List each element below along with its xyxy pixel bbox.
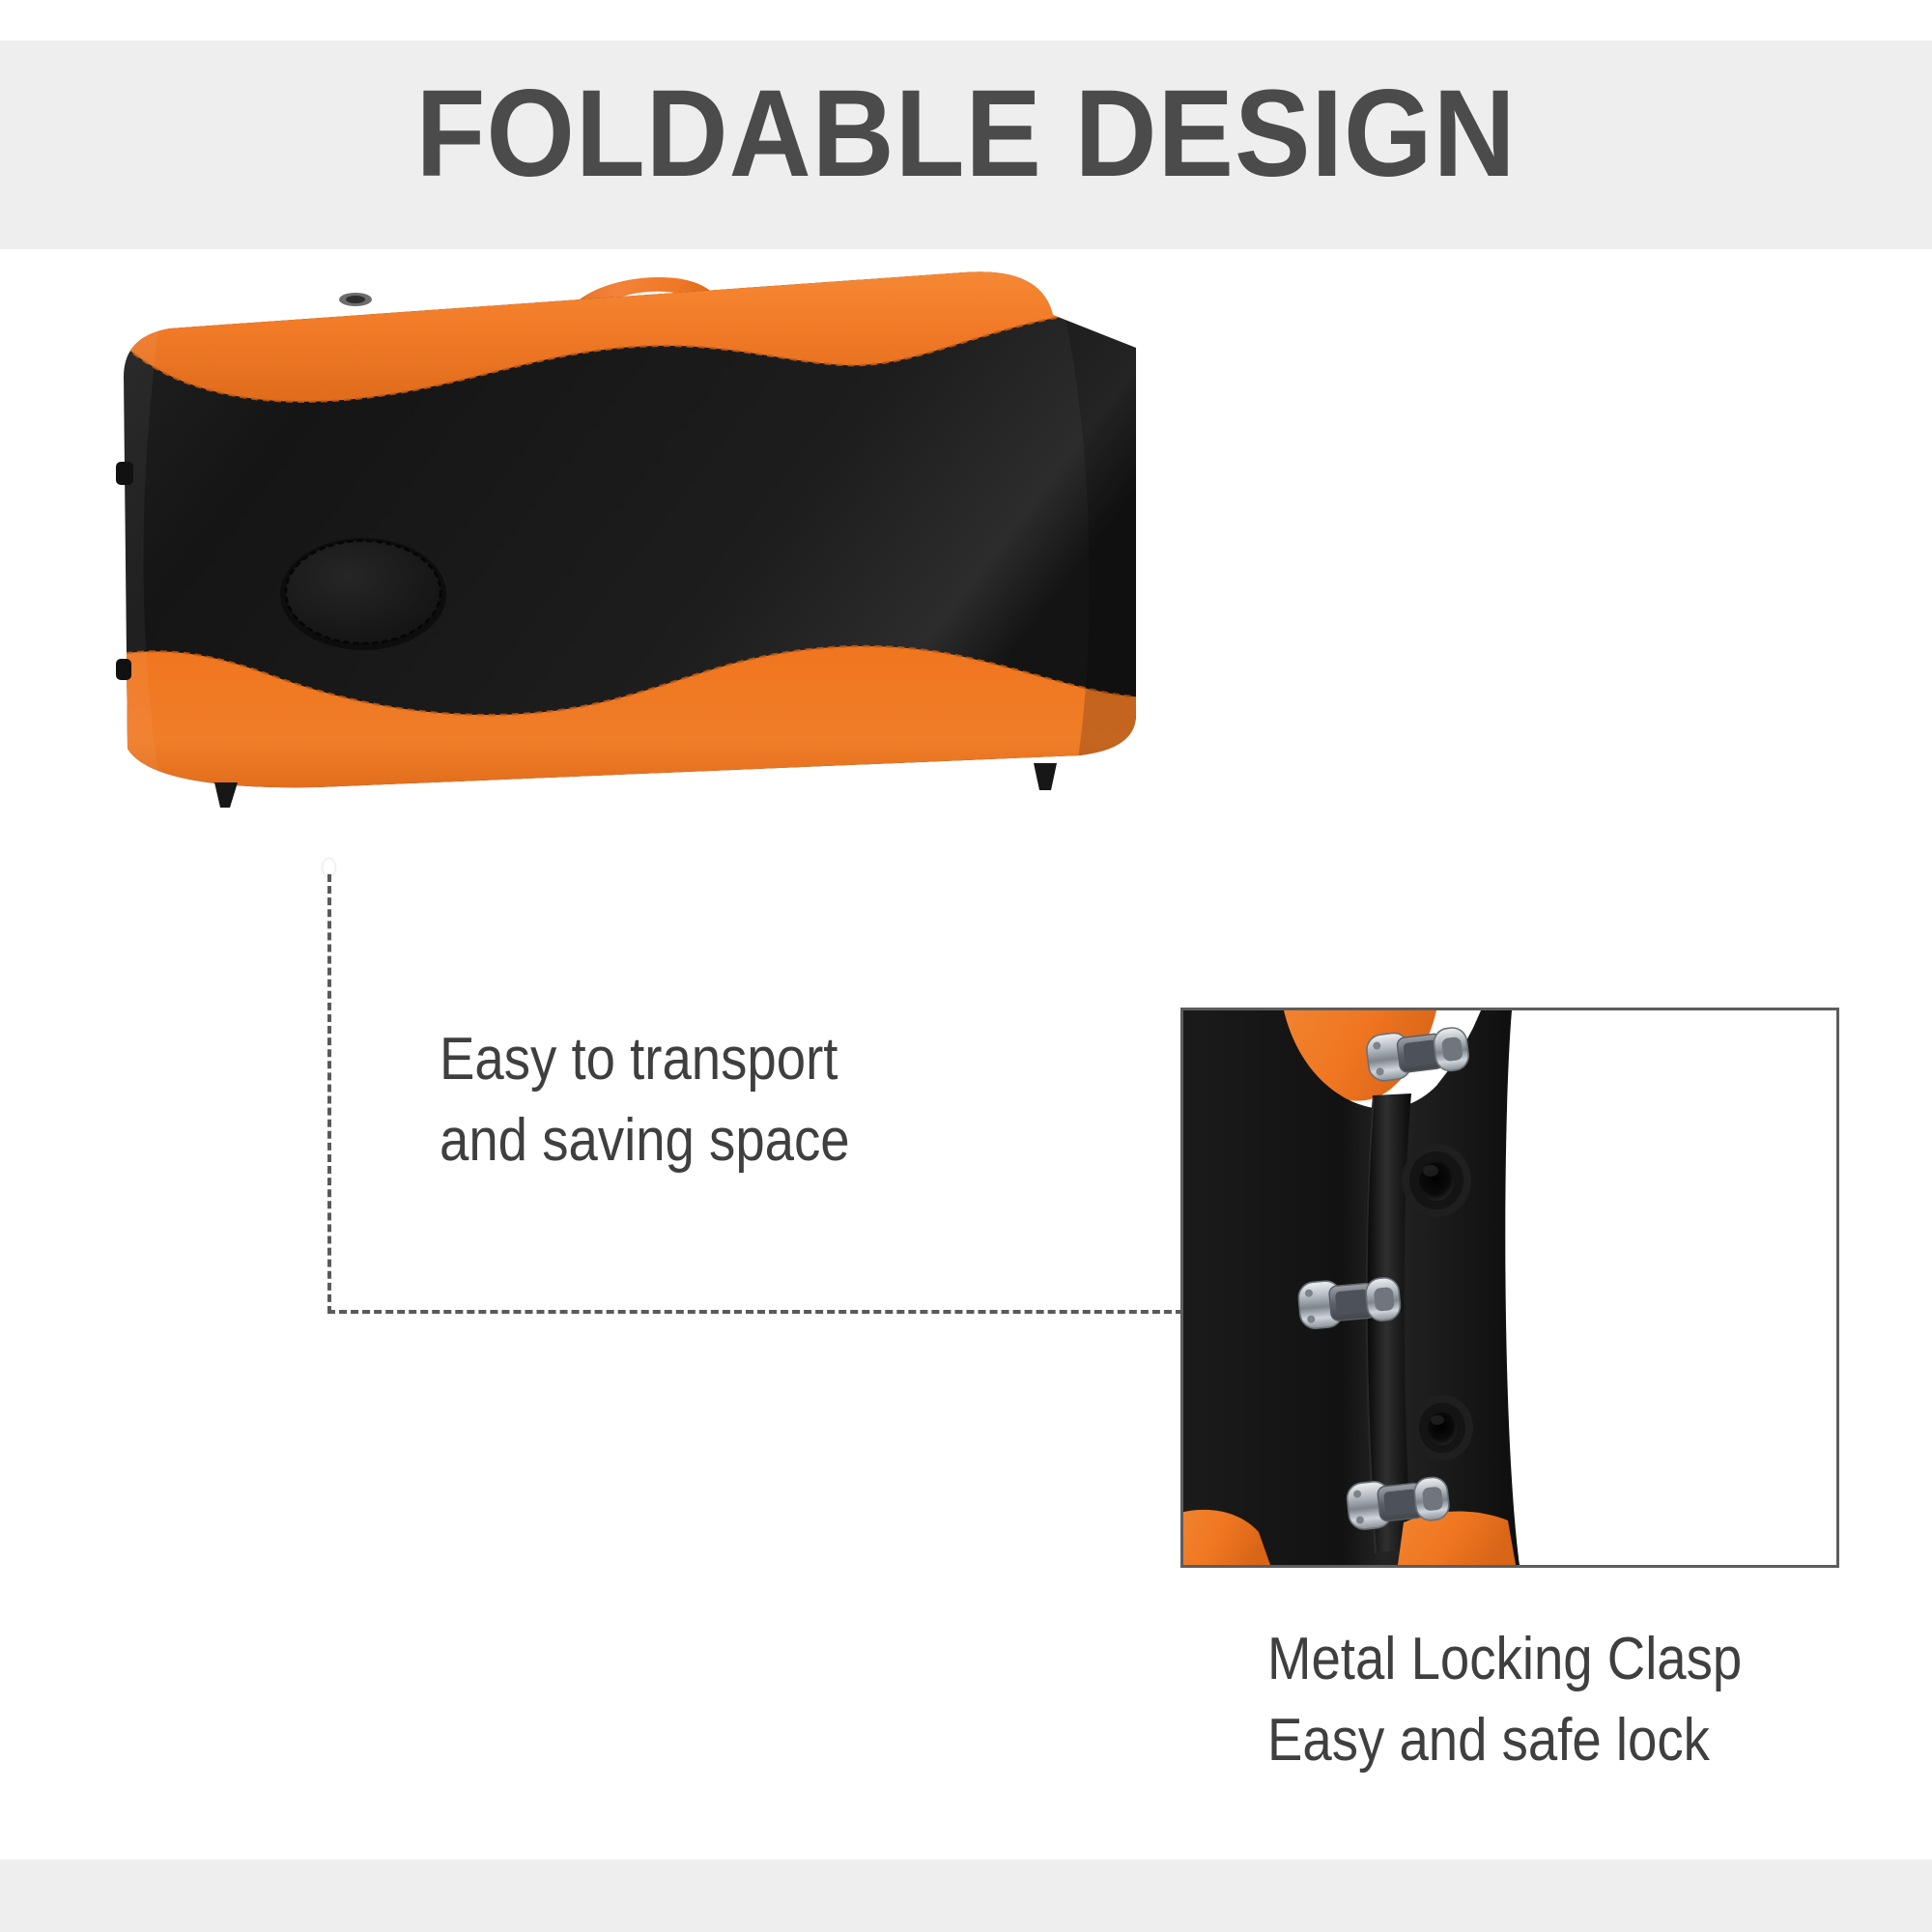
callout-leader-horizontal — [327, 1310, 1207, 1314]
orange-bottom-right-sliver — [1398, 1511, 1516, 1565]
foot-right — [1034, 763, 1057, 790]
case-body — [114, 261, 1148, 802]
folded-table-illustration — [114, 261, 1148, 802]
callout-leader-vertical — [327, 874, 331, 1314]
main-product-photo — [114, 261, 1148, 802]
face-hole-cover — [280, 538, 446, 650]
foot-left — [214, 782, 238, 808]
clasp-detail-illustration — [1183, 1010, 1589, 1565]
bottom-grey-band — [0, 1860, 1932, 1932]
grommet-hole-lower — [1411, 1395, 1473, 1461]
grommet-hole-upper — [1402, 1144, 1471, 1217]
product-feature-image: FOLDABLE DESIGN — [0, 0, 1932, 1932]
main-callout-line-2: and saving space — [440, 1100, 967, 1181]
inset-caption-line-1: Metal Locking Clasp — [1267, 1619, 1795, 1700]
inset-caption-line-2: Easy and safe lock — [1267, 1700, 1795, 1781]
grommet-top-hole — [346, 296, 365, 303]
inset-caption: Metal Locking Clasp Easy and safe lock — [1267, 1619, 1795, 1781]
side-tab-upper — [116, 462, 133, 485]
detail-inset-box — [1180, 1008, 1839, 1568]
main-callout-line-1: Easy to transport — [440, 1019, 967, 1100]
clasp-closeup-photo — [1183, 1010, 1589, 1565]
main-callout-caption: Easy to transport and saving space — [440, 1019, 967, 1181]
page-title: FOLDABLE DESIGN — [77, 62, 1855, 207]
side-tab-lower — [116, 659, 131, 680]
